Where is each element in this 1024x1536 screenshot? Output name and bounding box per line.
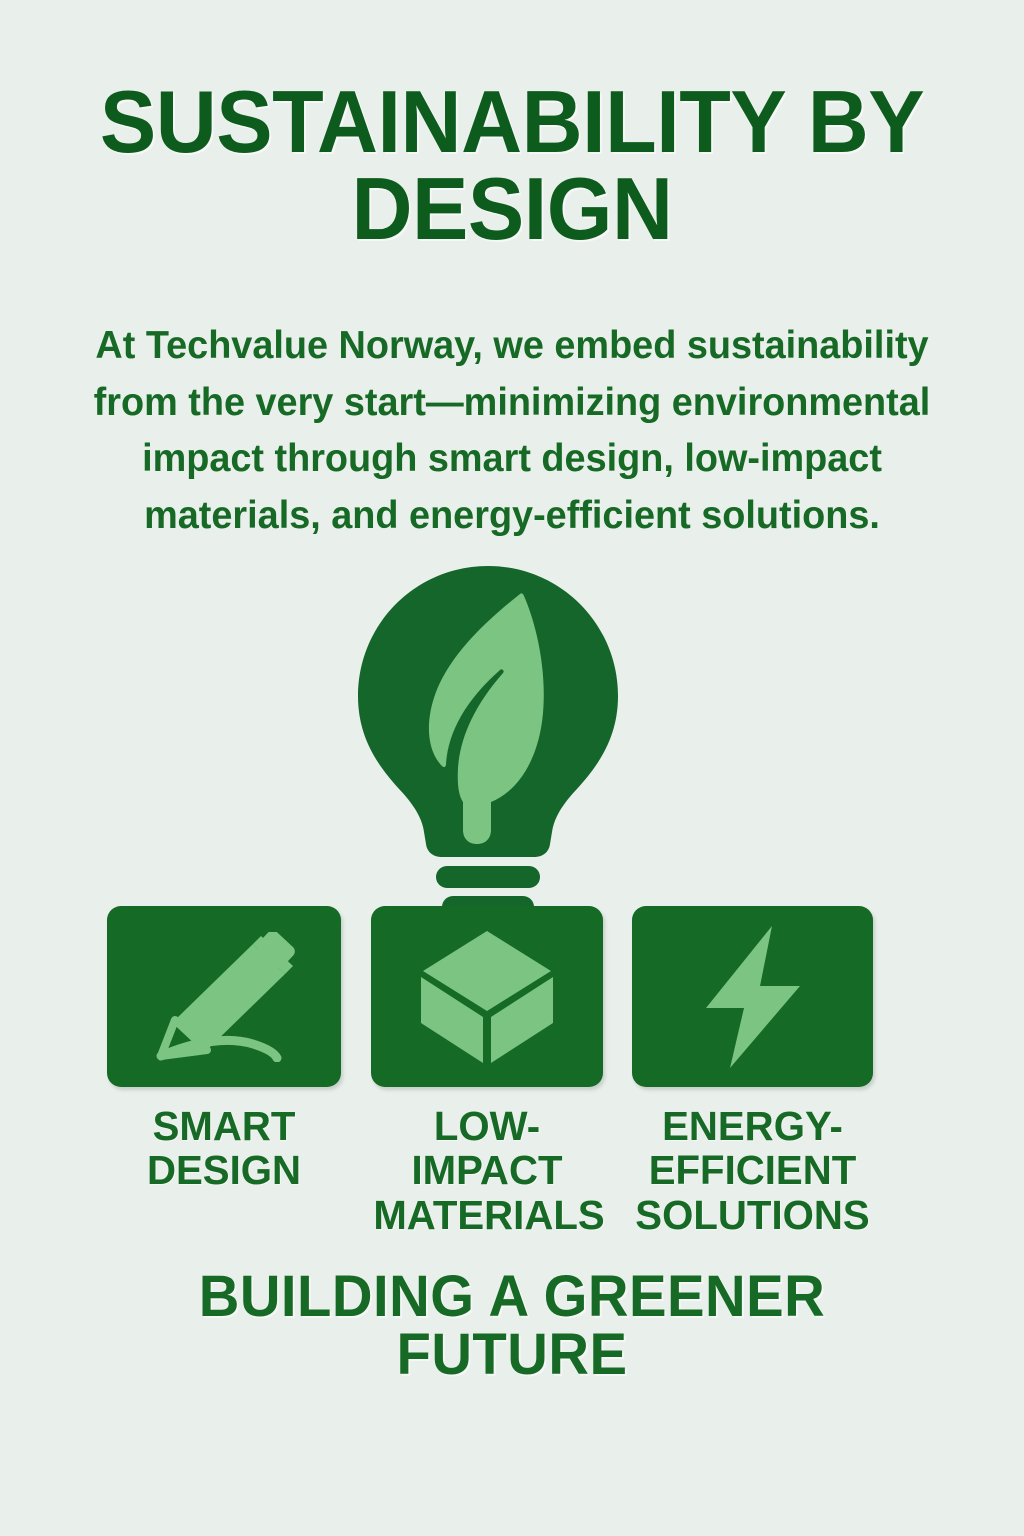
pillar-tile-energy-efficient-solutions[interactable] [632, 906, 873, 1087]
footer-tagline: BUILDING A GREENER FUTURE [76, 1268, 949, 1384]
pillar-label-energy-efficient-solutions: ENERGY-EFFICIENT SOLUTIONS [634, 1104, 870, 1237]
pillar-tiles [107, 906, 873, 1087]
pillar-labels: SMART DESIGN LOW-IMPACT MATERIALS ENERGY… [107, 1104, 873, 1254]
lightning-bolt-icon [698, 922, 808, 1072]
lightbulb-leaf-icon [332, 552, 644, 922]
sustainability-poster: SUSTAINABILITY BY DESIGN At Techvalue No… [0, 0, 1024, 1536]
page-title: SUSTAINABILITY BY DESIGN [70, 78, 953, 252]
intro-paragraph: At Techvalue Norway, we embed sustainabi… [93, 318, 931, 544]
pillar-label-low-impact-materials: LOW-IMPACT MATERIALS [373, 1104, 600, 1237]
pillar-tile-smart-design[interactable] [107, 906, 341, 1087]
pencil-icon [149, 932, 299, 1062]
pillar-tile-low-impact-materials[interactable] [371, 906, 603, 1087]
cube-icon [419, 927, 555, 1067]
pillar-label-smart-design: SMART DESIGN [109, 1104, 338, 1193]
